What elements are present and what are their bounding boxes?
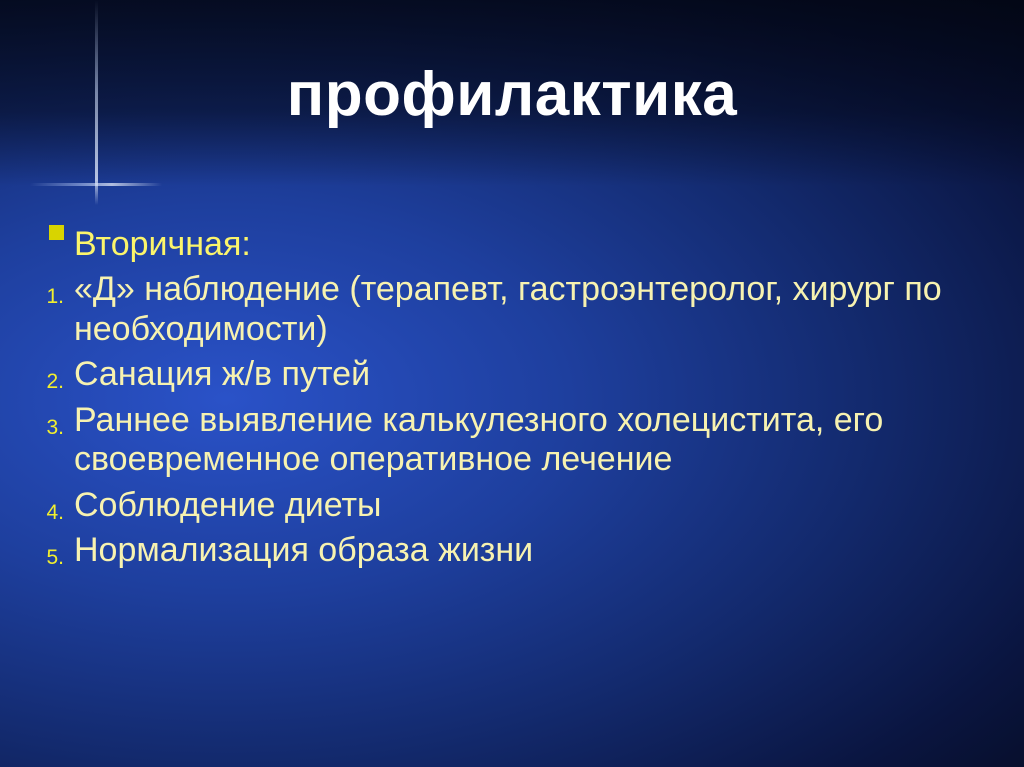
list-number-label: 5. [46,531,64,568]
bullet-marker-number: 1. [10,270,74,308]
bullet-text: Нормализация образа жизни [74,531,998,576]
bullet-text: «Д» наблюдение (терапевт, гастроэнтероло… [74,270,998,355]
bullet-text: Санация ж/в путей [74,355,998,400]
bullet-list: Вторичная: 1. «Д» наблюдение (терапевт, … [0,225,1024,577]
list-item: 2. Санация ж/в путей [0,355,1024,400]
crosshair-horizontal-decoration [30,183,162,186]
bullet-text: Раннее выявление калькулезного холецисти… [74,401,998,486]
bullet-text: Соблюдение диеты [74,486,998,531]
list-item: 3. Раннее выявление калькулезного холеци… [0,401,1024,486]
bullet-marker-number: 4. [10,486,74,524]
bullet-marker-number: 2. [10,355,74,393]
list-number-label: 1. [46,270,64,307]
list-item: 5. Нормализация образа жизни [0,531,1024,576]
list-number-label: 4. [46,486,64,523]
square-bullet-icon [49,225,64,240]
list-number-label: 2. [46,355,64,392]
list-number-label: 3. [46,401,64,438]
list-item: 4. Соблюдение диеты [0,486,1024,531]
list-item: Вторичная: [0,225,1024,270]
slide-title: профилактика [0,62,1024,127]
bullet-marker-number: 5. [10,531,74,569]
bullet-marker-square [10,225,74,251]
list-item: 1. «Д» наблюдение (терапевт, гастроэнтер… [0,270,1024,355]
presentation-slide: профилактика Вторичная: 1. «Д» наблюдени… [0,0,1024,767]
bullet-marker-number: 3. [10,401,74,439]
bullet-text: Вторичная: [74,225,998,270]
